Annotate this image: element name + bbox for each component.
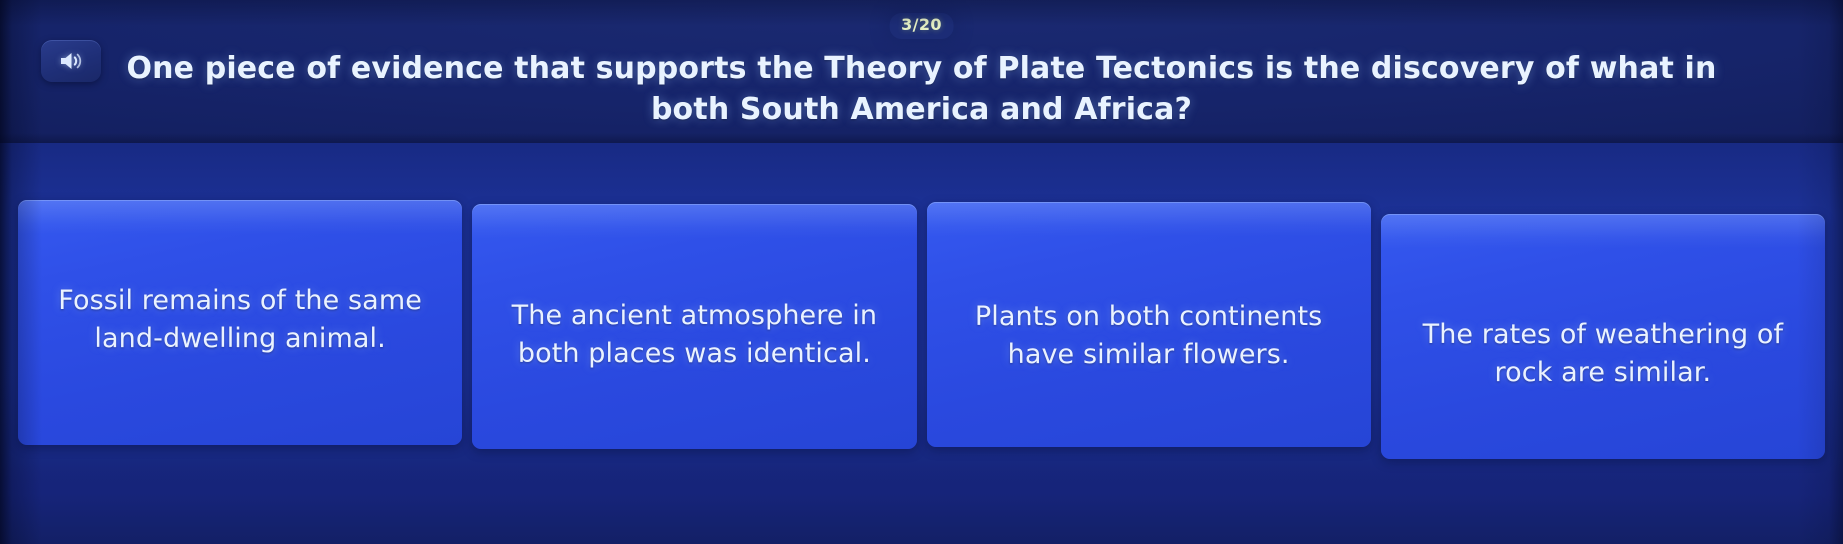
audio-play-button[interactable]: [41, 40, 101, 82]
answer-options-row: Fossil remains of the same land-dwelling…: [18, 196, 1825, 451]
answer-option-b-label: The ancient atmosphere in both places wa…: [486, 281, 902, 373]
answer-option-c[interactable]: Plants on both continents have similar f…: [927, 202, 1371, 447]
speaker-icon: [58, 50, 84, 72]
answer-option-d[interactable]: The rates of weathering of rock are simi…: [1381, 214, 1825, 459]
answer-option-c-label: Plants on both continents have similar f…: [941, 276, 1357, 374]
question-progress-badge: 3/20: [889, 13, 954, 39]
answer-option-a-label: Fossil remains of the same land-dwelling…: [32, 282, 448, 364]
bottom-band: [0, 462, 1843, 544]
answer-option-d-label: The rates of weathering of rock are simi…: [1395, 282, 1811, 392]
answer-option-a[interactable]: Fossil remains of the same land-dwelling…: [18, 200, 462, 445]
answer-option-b[interactable]: The ancient atmosphere in both places wa…: [472, 204, 916, 449]
question-band: 3/20 One piece of evidence that supports…: [0, 0, 1843, 143]
question-text: One piece of evidence that supports the …: [120, 48, 1723, 130]
quiz-screen: 3/20 One piece of evidence that supports…: [0, 0, 1843, 544]
answer-area: Fossil remains of the same land-dwelling…: [0, 143, 1843, 544]
